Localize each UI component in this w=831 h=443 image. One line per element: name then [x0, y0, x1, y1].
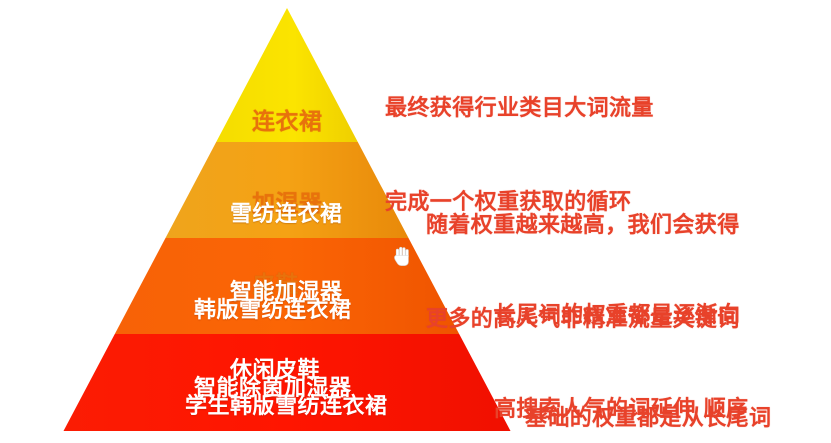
- slide-canvas: 连衣裙 加湿器 皮鞋 雪纺连衣裙 智能加湿器 休闲皮鞋 韩版雪纺连衣裙 智能除菌…: [0, 0, 831, 443]
- layer-3-line-1: 韩版雪纺连衣裙: [194, 298, 424, 324]
- pyramid-layer-4-label: 学生韩版雪纺连衣裙 智能除菌定时加湿器 2018新款真皮休闲皮鞋: [185, 342, 455, 443]
- note-4-line-1: 基础的权重都是从长尾词: [525, 403, 771, 434]
- layer-2-line-1: 雪纺连衣裙: [230, 202, 380, 228]
- layer-4-line-1: 学生韩版雪纺连衣裙: [185, 394, 455, 420]
- annotation-note-4: 基础的权重都是从长尾词 开始多数都是长词但是也 有直接拥有短词流量的: [525, 341, 771, 443]
- layer-1-line-1: 连衣裙: [252, 109, 362, 136]
- note-1-line-1: 最终获得行业类目大词流量: [385, 93, 654, 124]
- note-3-line-1: 长尾词的权重都是逐渐向: [494, 300, 748, 331]
